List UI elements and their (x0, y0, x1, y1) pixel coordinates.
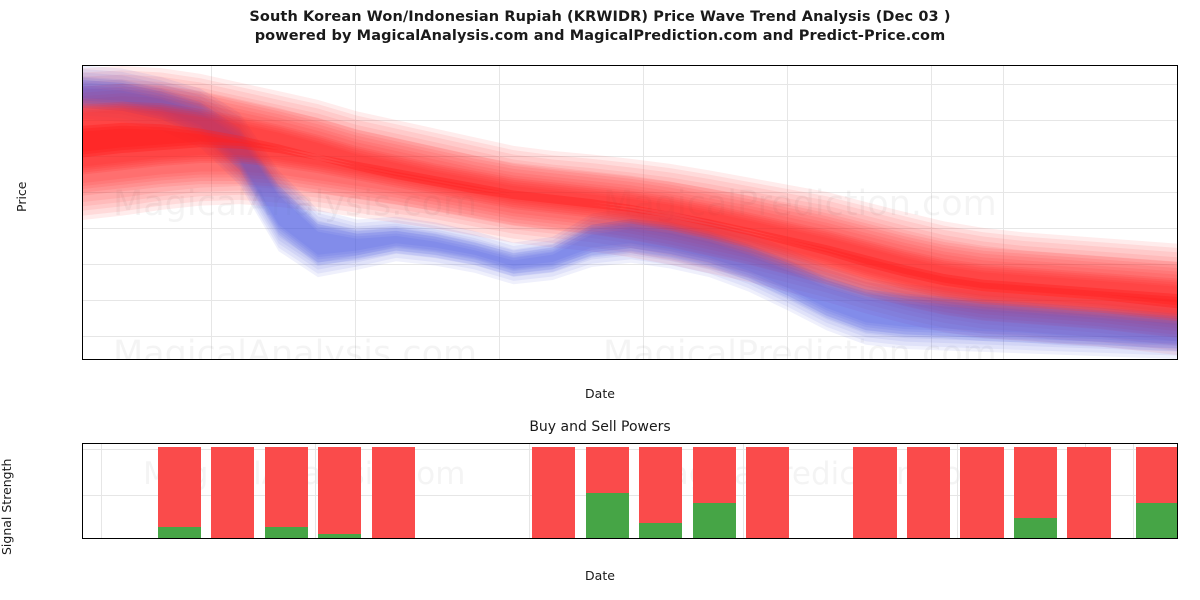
price-y-axis-label: Price (14, 182, 29, 213)
price-x-tick-mark (211, 359, 212, 360)
signal-x-tick-mark (1085, 538, 1086, 539)
signal-bar-sell-segment (960, 447, 1003, 538)
title-line-1: South Korean Won/Indonesian Rupiah (KRWI… (0, 8, 1200, 27)
signal-bar-sell-segment (693, 447, 736, 502)
signal-bar-sell-segment (1136, 447, 1178, 502)
signal-bar-sell-segment (318, 447, 361, 534)
signal-bar-buy-segment (639, 523, 682, 538)
signal-bar-sell-segment (907, 447, 950, 538)
signal-bar[interactable] (211, 447, 254, 538)
signal-x-axis-label: Date (0, 568, 1200, 583)
signal-bar-sell-segment (372, 447, 415, 538)
signal-bar[interactable] (746, 447, 789, 538)
signal-bar-sell-segment (532, 447, 575, 538)
signal-y-tick-mark (82, 449, 83, 450)
signal-x-tick-mark (1133, 538, 1134, 539)
signal-bar[interactable] (1014, 447, 1057, 538)
signal-bar-buy-segment (586, 493, 629, 538)
signal-bar-sell-segment (1067, 447, 1110, 538)
signal-bar-sell-segment (746, 447, 789, 538)
signal-bar-buy-segment (318, 534, 361, 538)
price-y-tick-mark (82, 156, 83, 157)
price-chart-plot-area: MagicalAnalysis.comMagicalPrediction.com… (82, 65, 1178, 360)
title-line-2: powered by MagicalAnalysis.com and Magic… (0, 27, 1200, 46)
signal-bar[interactable] (372, 447, 415, 538)
price-y-tick-mark (82, 336, 83, 337)
signal-gridline-v (315, 444, 316, 538)
signal-bar-sell-segment (639, 447, 682, 522)
signal-gridline-v (957, 444, 958, 538)
signal-bar[interactable] (586, 447, 629, 538)
signal-bar-sell-segment (1014, 447, 1057, 518)
signal-chart-plot-area: MagicalAnalysis.comMagicalPrediction.com… (82, 443, 1178, 539)
signal-bar[interactable] (853, 447, 896, 538)
price-x-tick-mark (1003, 359, 1004, 360)
signal-bar-buy-segment (265, 527, 308, 538)
price-x-tick-mark (931, 359, 932, 360)
signal-bar-buy-segment (158, 527, 201, 538)
price-y-tick-mark (82, 120, 83, 121)
signal-bar-sell-segment (211, 447, 254, 538)
signal-bar[interactable] (639, 447, 682, 538)
price-y-tick-mark (82, 84, 83, 85)
signal-bar-sell-segment (853, 447, 896, 538)
signal-gridline-v (529, 444, 530, 538)
signal-bar-sell-segment (586, 447, 629, 492)
signal-bar[interactable] (907, 447, 950, 538)
signal-bar[interactable] (265, 447, 308, 538)
signal-bar[interactable] (158, 447, 201, 538)
signal-y-axis-label: Signal Strength (0, 459, 14, 555)
signal-bar[interactable] (960, 447, 1003, 538)
signal-x-tick-mark (101, 538, 102, 539)
signal-x-tick-mark (743, 538, 744, 539)
signal-bar[interactable] (318, 447, 361, 538)
price-x-tick-mark (787, 359, 788, 360)
price-wave-bands (83, 66, 1178, 360)
price-y-tick-mark (82, 228, 83, 229)
signal-bar-buy-segment (1136, 503, 1178, 538)
signal-bar-sell-segment (265, 447, 308, 527)
signal-bar-buy-segment (693, 503, 736, 538)
signal-bar[interactable] (532, 447, 575, 538)
signal-x-tick-mark (529, 538, 530, 539)
signal-bar-buy-segment (1014, 518, 1057, 538)
price-x-tick-mark (643, 359, 644, 360)
price-x-tick-mark (355, 359, 356, 360)
signal-gridline-v (1133, 444, 1134, 538)
chart-page: South Korean Won/Indonesian Rupiah (KRWI… (0, 0, 1200, 600)
signal-bar[interactable] (1136, 447, 1178, 538)
signal-chart-title: Buy and Sell Powers (0, 419, 1200, 435)
price-x-axis-label: Date (0, 386, 1200, 401)
signal-gridline-v (743, 444, 744, 538)
price-x-tick-mark (499, 359, 500, 360)
signal-y-tick-mark (82, 495, 83, 496)
signal-bar-sell-segment (158, 447, 201, 527)
page-title: South Korean Won/Indonesian Rupiah (KRWI… (0, 8, 1200, 46)
price-y-tick-mark (82, 192, 83, 193)
signal-bar[interactable] (693, 447, 736, 538)
price-y-tick-mark (82, 300, 83, 301)
price-y-tick-mark (82, 264, 83, 265)
signal-x-tick-mark (957, 538, 958, 539)
signal-gridline-v (101, 444, 102, 538)
price-band-red-inner-4 (83, 102, 1178, 314)
signal-bar[interactable] (1067, 447, 1110, 538)
signal-x-tick-mark (315, 538, 316, 539)
